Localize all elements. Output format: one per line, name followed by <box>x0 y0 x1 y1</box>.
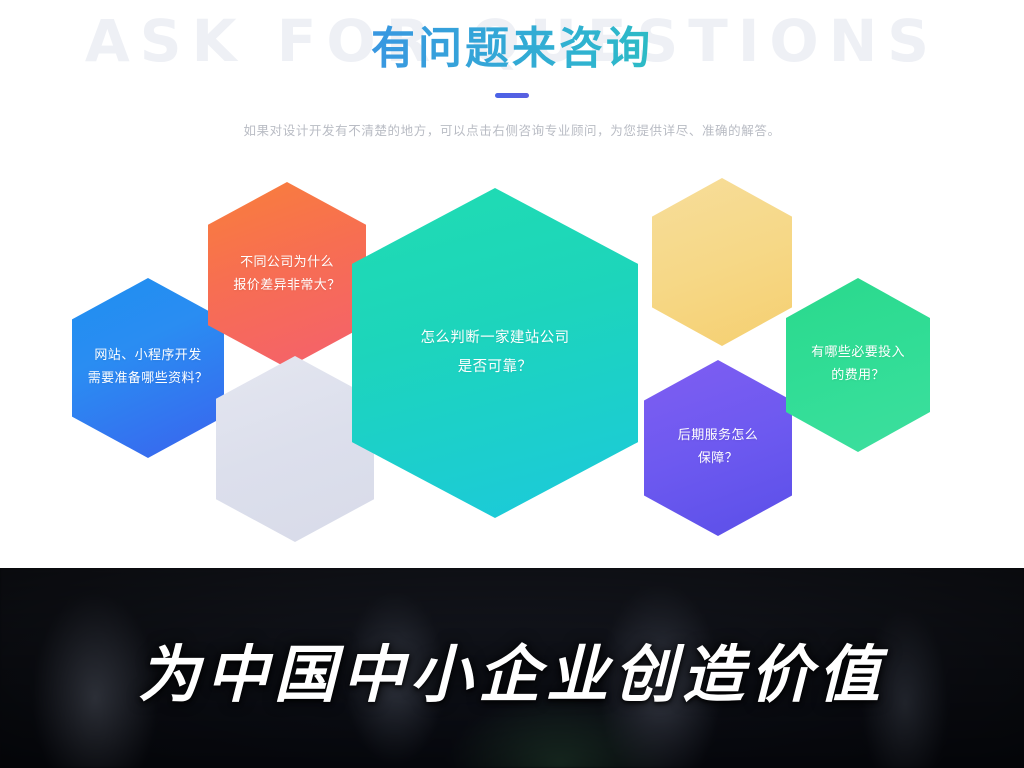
hexagon-after-sales-service[interactable]: 后期服务怎么 保障？ <box>644 360 792 536</box>
banner-slogan: 为中国中小企业创造价值 <box>0 624 1024 714</box>
hexagon-line-1: 网站、小程序开发 <box>94 348 201 363</box>
hexagon-line-1: 有哪些必要投入 <box>811 345 905 360</box>
hexagon-label: 后期服务怎么 保障？ <box>678 425 758 471</box>
hexagon-line-1: 不同公司为什么 <box>240 255 334 270</box>
bottom-banner: 为中国中小企业创造价值 <box>0 568 1024 768</box>
hexagon-line-1: 后期服务怎么 <box>678 428 758 443</box>
hexagon-label: 网站、小程序开发 需要准备哪些资料？ <box>88 345 209 391</box>
hexagon-line-2: 保障？ <box>698 451 738 466</box>
hexagon-line-2: 需要准备哪些资料？ <box>88 371 209 386</box>
hexagon-judge-reliable-company[interactable]: 怎么判断一家建站公司 是否可靠？ <box>352 188 638 518</box>
hexagon-label: 不同公司为什么 报价差异非常大？ <box>233 252 340 298</box>
hexagon-price-difference[interactable]: 不同公司为什么 报价差异非常大？ <box>208 182 366 368</box>
hexagon-line-2: 的费用？ <box>831 368 885 383</box>
hexagon-line-2: 是否可靠？ <box>458 359 533 375</box>
hexagon-line-1: 怎么判断一家建站公司 <box>421 330 570 346</box>
hexagon-necessary-costs[interactable]: 有哪些必要投入 的费用？ <box>786 278 930 452</box>
hexagon-decorative-yellow <box>652 178 792 346</box>
page-subtitle: 如果对设计开发有不清楚的地方，可以点击右侧咨询专业顾问，为您提供详尽、准确的解答… <box>0 120 1024 139</box>
page-title: 有问题来咨询 <box>0 24 1024 75</box>
hexagon-line-2: 报价差异非常大？ <box>233 278 340 293</box>
landing-page: ASK FOR QUESTIONS 有问题来咨询 如果对设计开发有不清楚的地方，… <box>0 0 1024 768</box>
hexagon-decorative-grey <box>216 356 374 542</box>
hexagon-label: 有哪些必要投入 的费用？ <box>811 342 905 388</box>
hexagon-label: 怎么判断一家建站公司 是否可靠？ <box>421 324 570 382</box>
hexagon-website-materials[interactable]: 网站、小程序开发 需要准备哪些资料？ <box>72 278 224 458</box>
title-divider <box>495 93 529 98</box>
hexagon-cluster: 网站、小程序开发 需要准备哪些资料？ 不同公司为什么 报价差异非常大？ 怎么判断… <box>0 160 1024 560</box>
section-header: ASK FOR QUESTIONS 有问题来咨询 如果对设计开发有不清楚的地方，… <box>0 0 1024 160</box>
